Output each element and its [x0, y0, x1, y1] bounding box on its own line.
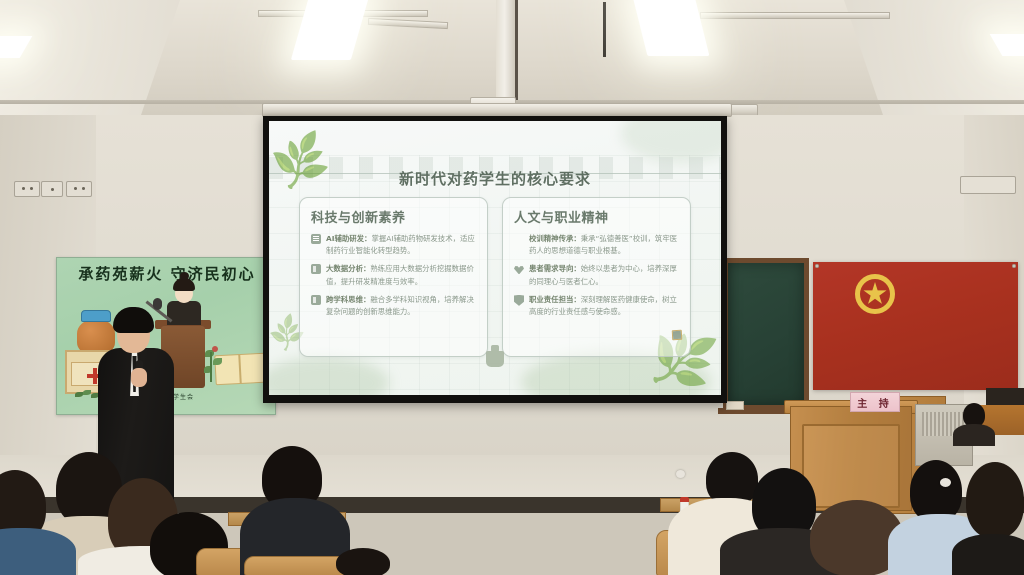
light-fixture-rail-3	[700, 12, 890, 19]
presentation-slide: 🌿 🌿 🌿 新时代对药学生的核心要求 科技与创新素养 AI辅助研发：掌握AI辅助…	[269, 121, 721, 395]
chart-icon	[311, 264, 321, 274]
bullet-item: 校训精神传承：秉承“弘德善医”校训，筑牢医药人的思想道德与职业根基。	[514, 233, 679, 257]
shield-icon	[514, 295, 524, 305]
audience-head	[966, 462, 1024, 538]
hair-clip	[940, 478, 951, 487]
bullet-text: 患者需求导向：始终以患者为中心，培养深厚的同理心与医者仁心。	[529, 263, 679, 287]
jar-lid-illustration	[81, 310, 111, 322]
chalkboard	[723, 258, 809, 410]
host-sign: 主 持	[850, 392, 900, 412]
hanging-cable	[603, 2, 606, 57]
medicine-jar-illustration	[77, 320, 115, 354]
audience-shoulder	[952, 534, 1024, 575]
heart-icon	[514, 264, 524, 274]
wall-socket-2	[41, 181, 63, 197]
bullet-text: AI辅助研发：掌握AI辅助药物研发技术，适应制药行业智能化转型趋势。	[326, 233, 476, 257]
slide-columns: 科技与创新素养 AI辅助研发：掌握AI辅助药物研发技术，适应制药行业智能化转型趋…	[299, 197, 691, 357]
bullet-item: 患者需求导向：始终以患者为中心，培养深厚的同理心与医者仁心。	[514, 263, 679, 287]
presenter-hand	[131, 368, 147, 387]
bullet-term: 跨学科思维：	[326, 295, 370, 304]
hair-clip	[676, 470, 685, 478]
bullet-term: AI辅助研发：	[326, 234, 371, 243]
mortar-and-pestle-icon	[486, 351, 504, 367]
wall-socket-1	[14, 181, 40, 197]
bullet-term: 患者需求导向：	[529, 264, 581, 273]
bullet-item: 跨学科思维：融合多学科知识视角，培养解决复杂问题的创新思维能力。	[311, 294, 476, 318]
audience-head	[910, 460, 962, 522]
column-heading-humanities: 人文与职业精神	[514, 207, 679, 226]
herb-plant-illustration	[203, 346, 225, 384]
poster-title: 承药苑薪火 守济民初心	[63, 263, 271, 284]
slide-column-humanities: 人文与职业精神 校训精神传承：秉承“弘德善医”校训，筑牢医药人的思想道德与职业根…	[502, 197, 691, 357]
projection-screen: 🌿 🌿 🌿 新时代对药学生的核心要求 科技与创新素养 AI辅助研发：掌握AI辅助…	[263, 116, 727, 403]
bullet-item: 大数据分析：熟练应用大数据分析挖掘数据价值，提升研发精准度与效率。	[311, 263, 476, 287]
youth-league-flag	[813, 262, 1018, 390]
microphone-head-illustration	[153, 298, 162, 310]
bullet-text: 跨学科思维：融合多学科知识视角，培养解决复杂问题的创新思维能力。	[326, 294, 476, 318]
seated-person-shoulder	[953, 424, 995, 446]
book-icon	[311, 234, 321, 244]
figure-bun-illustration	[180, 272, 189, 280]
wall-socket-right	[960, 176, 1016, 194]
bullet-text: 校训精神传承：秉承“弘德善医”校训，筑牢医药人的思想道德与职业根基。	[529, 233, 679, 257]
bullet-term: 校训精神传承：	[529, 234, 581, 243]
podium-front-panel	[802, 424, 900, 508]
network-icon	[311, 295, 321, 305]
slide-title: 新时代对药学生的核心要求	[269, 168, 721, 189]
bullet-text: 职业责任担当：深刻理解医药健康使命，树立高度的行业责任感与使命感。	[529, 294, 679, 318]
bullet-term: 大数据分析：	[326, 264, 370, 273]
projection-screen-housing	[262, 103, 732, 117]
chalkboard-eraser	[726, 401, 744, 410]
audience-head	[336, 548, 390, 575]
figure-body-illustration	[167, 301, 201, 325]
book-icon	[672, 330, 683, 341]
bullet-term: 职业责任担当：	[529, 295, 581, 304]
bullet-text: 大数据分析：熟练应用大数据分析挖掘数据价值，提升研发精准度与效率。	[326, 263, 476, 287]
wall-socket-3	[66, 181, 92, 197]
bullet-item: AI辅助研发：掌握AI辅助药物研发技术，适应制药行业智能化转型趋势。	[311, 233, 476, 257]
bullet-item: 职业责任担当：深刻理解医药健康使命，树立高度的行业责任感与使命感。	[514, 294, 679, 318]
lecture-hall-scene: 承药苑薪火 守济民初心 药学院学生会	[0, 0, 1024, 575]
column-heading-tech: 科技与创新素养	[311, 207, 476, 226]
ceiling-beam	[496, 0, 518, 100]
slide-column-tech: 科技与创新素养 AI辅助研发：掌握AI辅助药物研发技术，适应制药行业智能化转型趋…	[299, 197, 488, 357]
bottle-cap	[680, 497, 689, 502]
